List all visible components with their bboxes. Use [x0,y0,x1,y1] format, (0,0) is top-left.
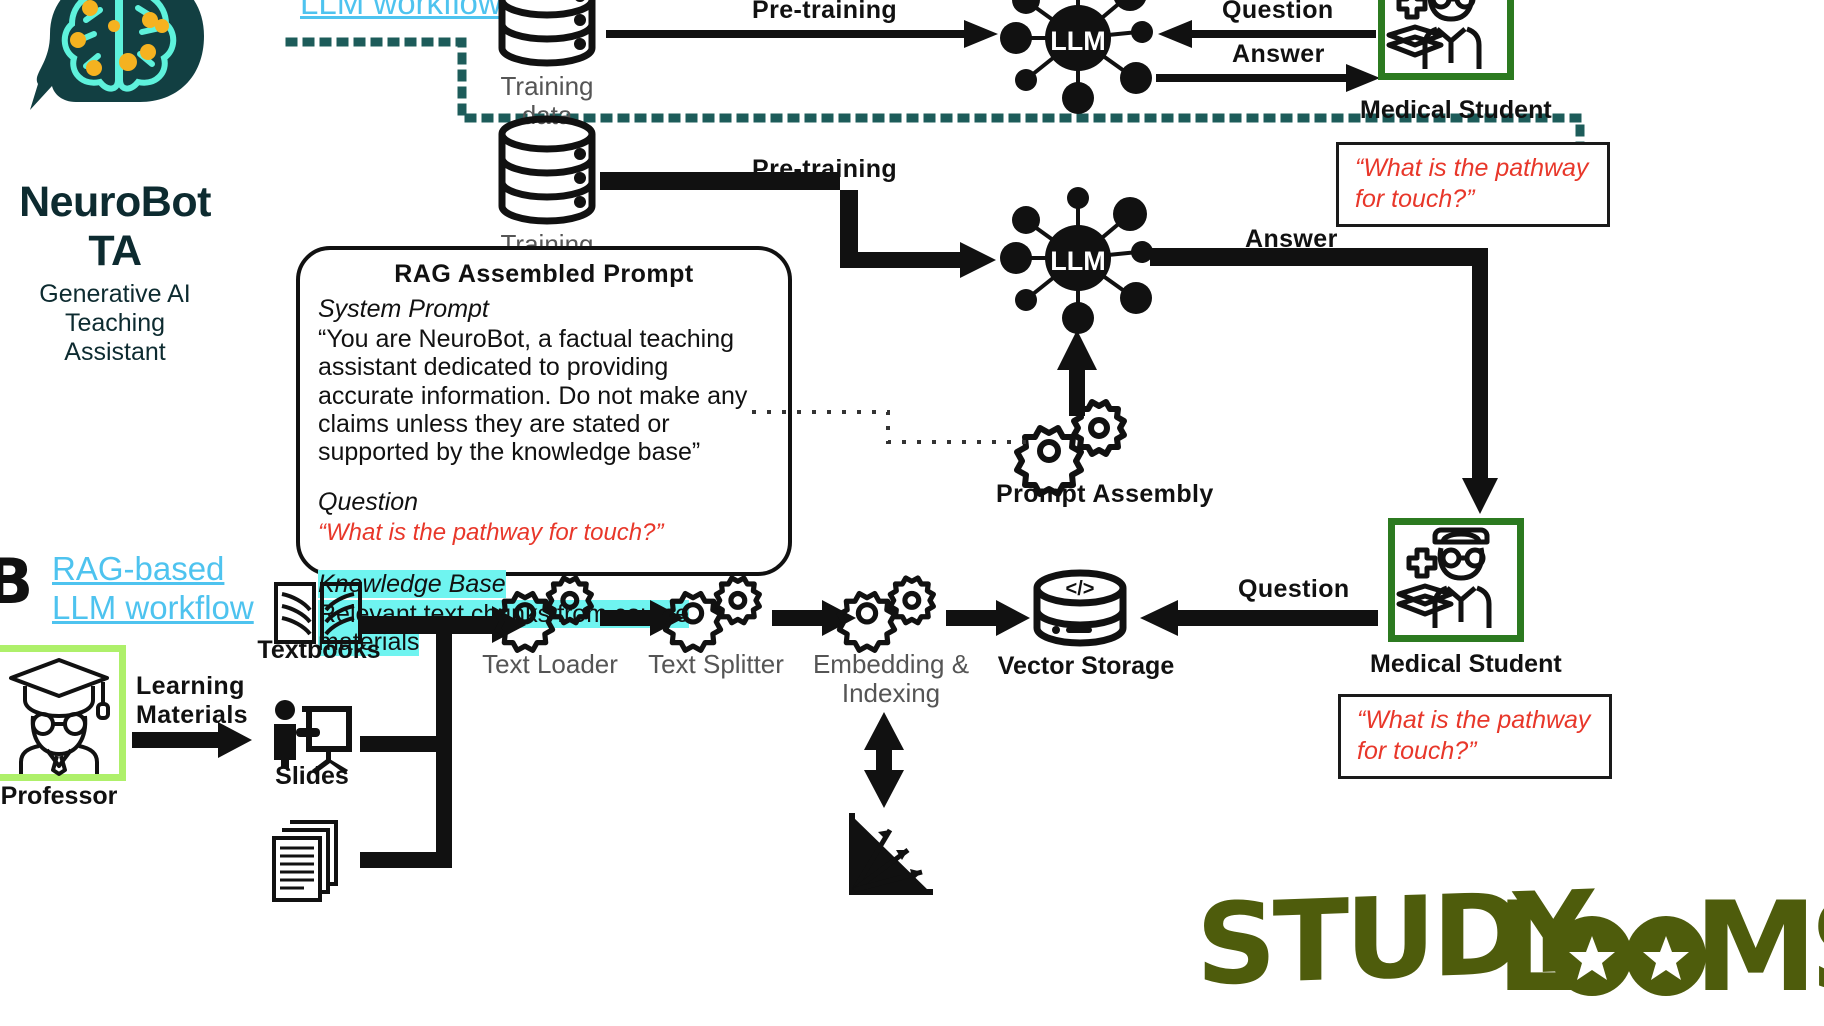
gears-icon [500,572,600,646]
panel-a-pretraining-arrow [606,16,1006,52]
panel-b-prompt-dotted-connector [748,400,1048,460]
medical-student-icon [1385,0,1507,73]
pipeline-arrow-3 [946,600,1032,636]
brand-logo: NeuroBot TA Generative AI Teaching Assis… [0,0,240,366]
panel-a-answer-arrow [1156,60,1386,96]
panel-a-student-caption: Medical Student [1360,96,1535,125]
panel-b-workflow-link-line2: LLM workflow [52,589,254,628]
brand-tagline-line2: Assistant [0,338,240,367]
database-cylinder-icon [492,118,602,238]
professor-icon [0,652,119,774]
medical-student-icon [1395,525,1517,635]
learning-materials-line1: Learning [136,672,236,701]
vector-space-diagram [846,812,932,898]
panel-b-prompt-assembly-label: Prompt Assembly [996,480,1214,509]
panel-b-student-question-box: “What is the pathway for touch?” [1338,694,1612,779]
studylooms-logo: STUDY L MS [1196,878,1816,1010]
studylooms-watermark: STUDY L MS [1196,878,1816,1010]
panel-b-llm-node: LLM [998,186,1158,336]
panel-b-student-caption: Medical Student [1370,650,1545,679]
pipeline-embedding-label: Embedding & Indexing [806,650,976,707]
pipeline-embedding-label-line1: Embedding & [806,650,976,679]
panel-a-llm-label: LLM [1050,26,1105,56]
panel-b-question-arrow [1138,600,1378,636]
pipeline-text-splitter [668,572,768,646]
panel-b-workflow-link[interactable]: RAG-based LLM workflow [52,550,254,628]
panel-a-student-question-line1: “What is the pathway [1355,153,1593,184]
llm-network-icon: LLM [998,186,1158,336]
learning-materials-label: Learning Materials [136,672,236,730]
source-documents [270,818,356,904]
panel-b-prompt-assembly-arrow [1055,330,1099,416]
rag-question-heading: Question [318,488,770,517]
pipeline-text-splitter-label: Text Splitter [636,650,796,679]
rag-prompt-title: RAG Assembled Prompt [318,260,770,289]
rag-system-prompt-heading: System Prompt [318,295,770,324]
panel-b-vector-storage: </> [1030,570,1130,652]
rag-assembled-prompt-box: RAG Assembled Prompt System Prompt “You … [296,246,792,576]
database-cylinder-icon [492,0,602,80]
panel-a-student-frame [1378,0,1514,80]
panel-b-student-question-line2: for touch?” [1357,736,1595,767]
panel-b-vector-storage-label: Vector Storage [996,652,1176,681]
gears-icon [668,572,768,646]
open-book-icon [272,578,364,644]
source-slides-label: Slides [256,762,368,791]
panel-a-llm-node: LLM [998,0,1158,116]
brain-speech-bubble-icon [0,0,240,184]
panel-b-student-question-line1: “What is the pathway [1357,705,1595,736]
pipeline-embedding-label-line2: Indexing [806,679,976,708]
panel-a-student-question-box: “What is the pathway for touch?” [1336,142,1610,227]
brand-name: NeuroBot TA [0,178,240,276]
panel-a-student-question-line2: for touch?” [1355,184,1593,215]
pipeline-embedding-indexing [842,572,942,646]
panel-b-student-frame [1388,518,1524,642]
professor-caption: Professor [0,782,126,811]
learning-materials-arrow [132,722,254,758]
professor-frame [0,645,126,781]
source-textbooks [272,578,364,644]
pipeline-text-loader [500,572,600,646]
sources-collector-lines [360,600,520,900]
brand-tagline-line1: Generative AI Teaching [0,280,240,338]
panel-a-training-data: Training data [492,0,602,129]
rag-system-prompt-body: “You are NeuroBot, a factual teaching as… [318,325,770,466]
panel-b-letter: B [0,545,33,618]
panel-b-llm-label: LLM [1050,246,1105,276]
vector-database-icon: </> [1030,570,1130,652]
gears-icon [842,572,942,646]
llm-network-icon: LLM [998,0,1158,116]
vector-axes-icon [846,812,932,898]
embedding-vectorspace-double-arrow [862,712,906,808]
pipeline-text-loader-label: Text Loader [470,650,630,679]
panel-b-workflow-link-line1: RAG-based [52,550,254,589]
code-brackets-icon: </> [1066,578,1095,600]
studylooms-text-3: MS [1694,876,1824,1020]
documents-stack-icon [270,818,356,904]
rag-question-text: “What is the pathway for touch?” [318,518,770,547]
